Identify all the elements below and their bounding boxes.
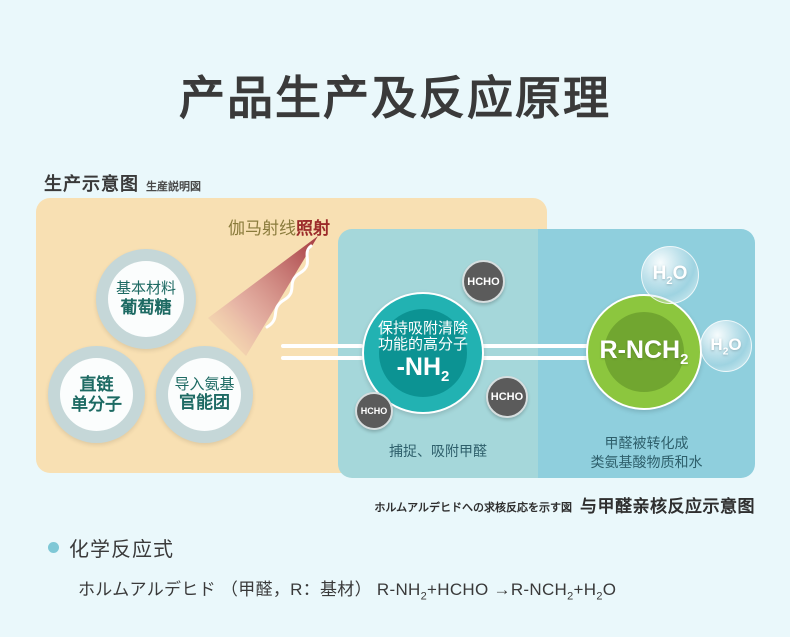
circle-linear-monomer: 直链 单分子 [48,346,145,443]
circle-base-material-line2: 葡萄糖 [121,298,172,317]
polymer-nh2-line1: 保持吸附清除 [378,321,468,337]
poster-root: 产品生产及反应原理 生产示意图 生産説明図 伽马射线照射 基本材料 [0,0,790,637]
connector-line-left-top [281,344,363,348]
section-caption-jp: 生産説明図 [146,178,201,196]
polymer-nh2-formula-sub: 2 [441,368,449,385]
section-caption: 生产示意图 生産説明図 [44,170,201,196]
gamma-ray-label: 伽马射线照射 [228,214,330,239]
circle-base-material-line1: 基本材料 [116,281,176,298]
circle-linear-monomer-line2: 单分子 [71,395,122,414]
circle-amino-group: 导入氨基 官能团 [156,346,253,443]
h2o-bubble-2: H2O [700,320,752,372]
page-title: 产品生产及反应原理 [0,62,790,128]
h2o-bubble-1-main: H [653,263,667,284]
circle-amino-group-line1: 导入氨基 [174,377,234,394]
h2o-bubble-1: H2O [641,246,699,304]
h2o-bubble-2-main: H [710,335,722,354]
chemistry-heading-label: 化学反应式 [69,533,174,562]
h2o-bubble-1-tail: O [673,263,688,284]
hcho-bubble-1: HCHO [462,260,505,303]
circle-base-material: 基本材料 葡萄糖 [96,249,196,349]
chemistry-formula: ホルムアルデヒド （甲醛，R：基材） R-NH2+HCHO →R-NCH2+H2… [78,575,616,602]
connector-line-right-bottom [477,356,589,360]
hcho-bubble-3: HCHO [355,392,393,430]
adsorption-panel-caption: 捕捉、吸附甲醛 [338,442,538,461]
r-nch2-formula-sub: 2 [680,351,688,368]
circle-linear-monomer-line1: 直链 [80,375,114,394]
diagram-caption: ホルムアルデヒドへの求核反応を示す図 与甲醛亲核反应示意图 [360,492,755,517]
polymer-nh2-formula: -NH [397,353,441,381]
conversion-panel-caption-line2: 类氨基酸物质和水 [538,453,755,472]
diagram-caption-cn: 与甲醛亲核反应示意图 [580,492,755,517]
h2o-bubble-2-tail: O [728,335,741,354]
hcho-bubble-2: HCHO [486,376,528,418]
chemistry-heading: 化学反应式 [48,533,174,562]
gamma-ray-label-bold: 照射 [296,219,330,238]
conversion-panel-caption: 甲醛被转化成 类氨基酸物质和水 [538,434,755,472]
conversion-panel-caption-line1: 甲醛被转化成 [538,434,755,453]
connector-line-left-bottom [281,356,363,360]
diagram-caption-jp: ホルムアルデヒドへの求核反応を示す図 [374,499,572,517]
r-nch2-circle: R-NCH2 [586,294,702,410]
gamma-ray-label-normal: 伽马射线 [228,219,296,238]
r-nch2-formula: R-NCH [600,336,681,364]
circle-amino-group-line2: 官能团 [179,393,230,412]
bullet-dot-icon [48,542,59,553]
connector-line-right-top [477,344,589,348]
section-caption-cn: 生产示意图 [44,170,139,196]
polymer-nh2-line2: 功能的高分子 [378,337,468,353]
